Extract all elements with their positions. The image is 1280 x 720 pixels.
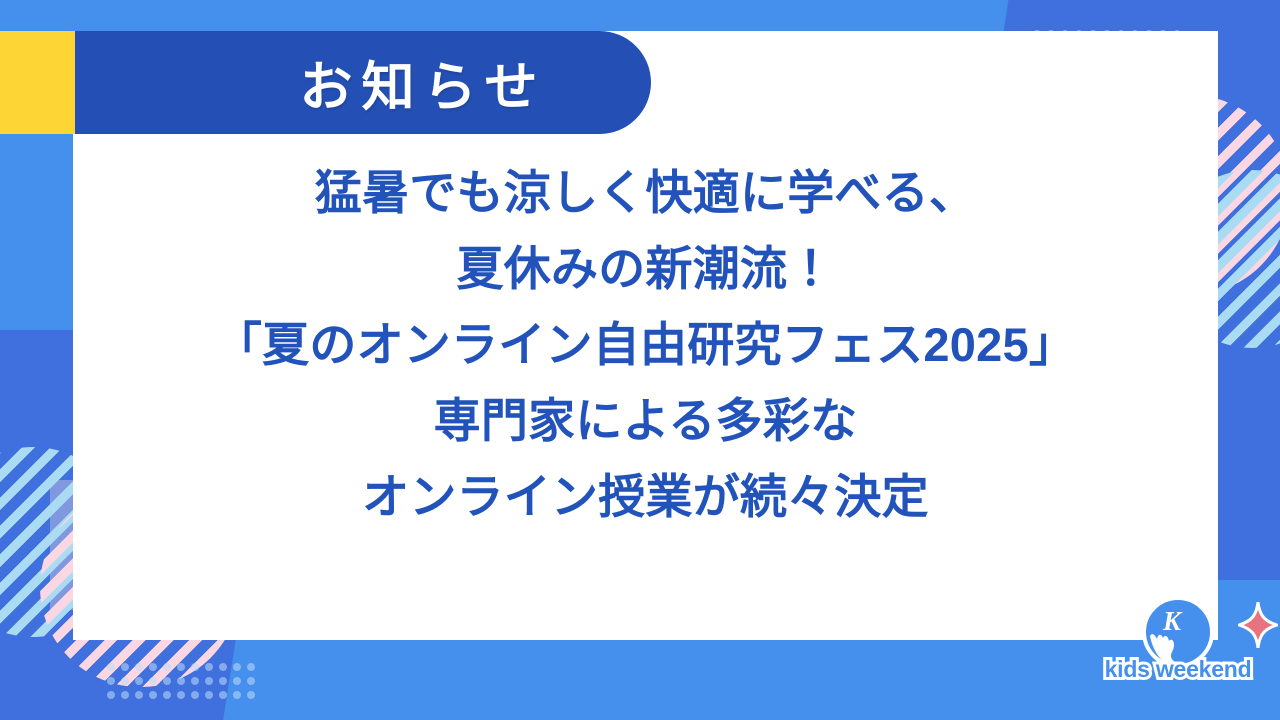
dot — [247, 677, 255, 685]
header-pill: お知らせ — [75, 31, 651, 134]
dot — [107, 677, 115, 685]
logo-wordmark: kids weekend — [1098, 656, 1258, 683]
body-line-2: 夏休みの新潮流！ — [73, 231, 1218, 307]
dot — [163, 663, 171, 671]
kids-weekend-logo: K kids weekend — [1098, 596, 1258, 696]
body-line-3: 「夏のオンライン自由研究フェス2025」 — [73, 307, 1218, 383]
dot — [121, 691, 129, 699]
dot — [163, 691, 171, 699]
body-line-1: 猛暑でも涼しく快適に学べる、 — [73, 155, 1218, 231]
dot — [219, 691, 227, 699]
dot — [219, 677, 227, 685]
dot-grid-bottom-left — [107, 663, 261, 705]
dot — [163, 677, 171, 685]
dot — [149, 677, 157, 685]
dot — [149, 663, 157, 671]
dot — [233, 691, 241, 699]
dot — [121, 677, 129, 685]
dot — [233, 663, 241, 671]
header-accent-block — [0, 31, 76, 134]
dot — [219, 663, 227, 671]
page-title: お知らせ — [180, 45, 547, 121]
body-line-4: 専門家による多彩な — [73, 383, 1218, 459]
dot — [205, 677, 213, 685]
dot — [177, 677, 185, 685]
dot — [233, 677, 241, 685]
dot — [191, 691, 199, 699]
announcement-body: 猛暑でも涼しく快適に学べる、 夏休みの新潮流！ 「夏のオンライン自由研究フェス2… — [73, 155, 1218, 535]
sparkle-star-icon — [1238, 602, 1278, 648]
dot — [135, 663, 143, 671]
dot — [135, 677, 143, 685]
dot — [177, 663, 185, 671]
dot — [247, 663, 255, 671]
dot — [149, 691, 157, 699]
dot — [191, 677, 199, 685]
dot — [205, 691, 213, 699]
dot — [107, 691, 115, 699]
dot — [107, 663, 115, 671]
dot — [247, 691, 255, 699]
dot — [135, 691, 143, 699]
dot — [191, 663, 199, 671]
dot — [205, 663, 213, 671]
body-line-5: オンライン授業が続々決定 — [73, 459, 1218, 535]
announcement-banner: お知らせ 猛暑でも涼しく快適に学べる、 夏休みの新潮流！ 「夏のオンライン自由研… — [0, 0, 1280, 720]
dot — [121, 663, 129, 671]
dot — [177, 691, 185, 699]
